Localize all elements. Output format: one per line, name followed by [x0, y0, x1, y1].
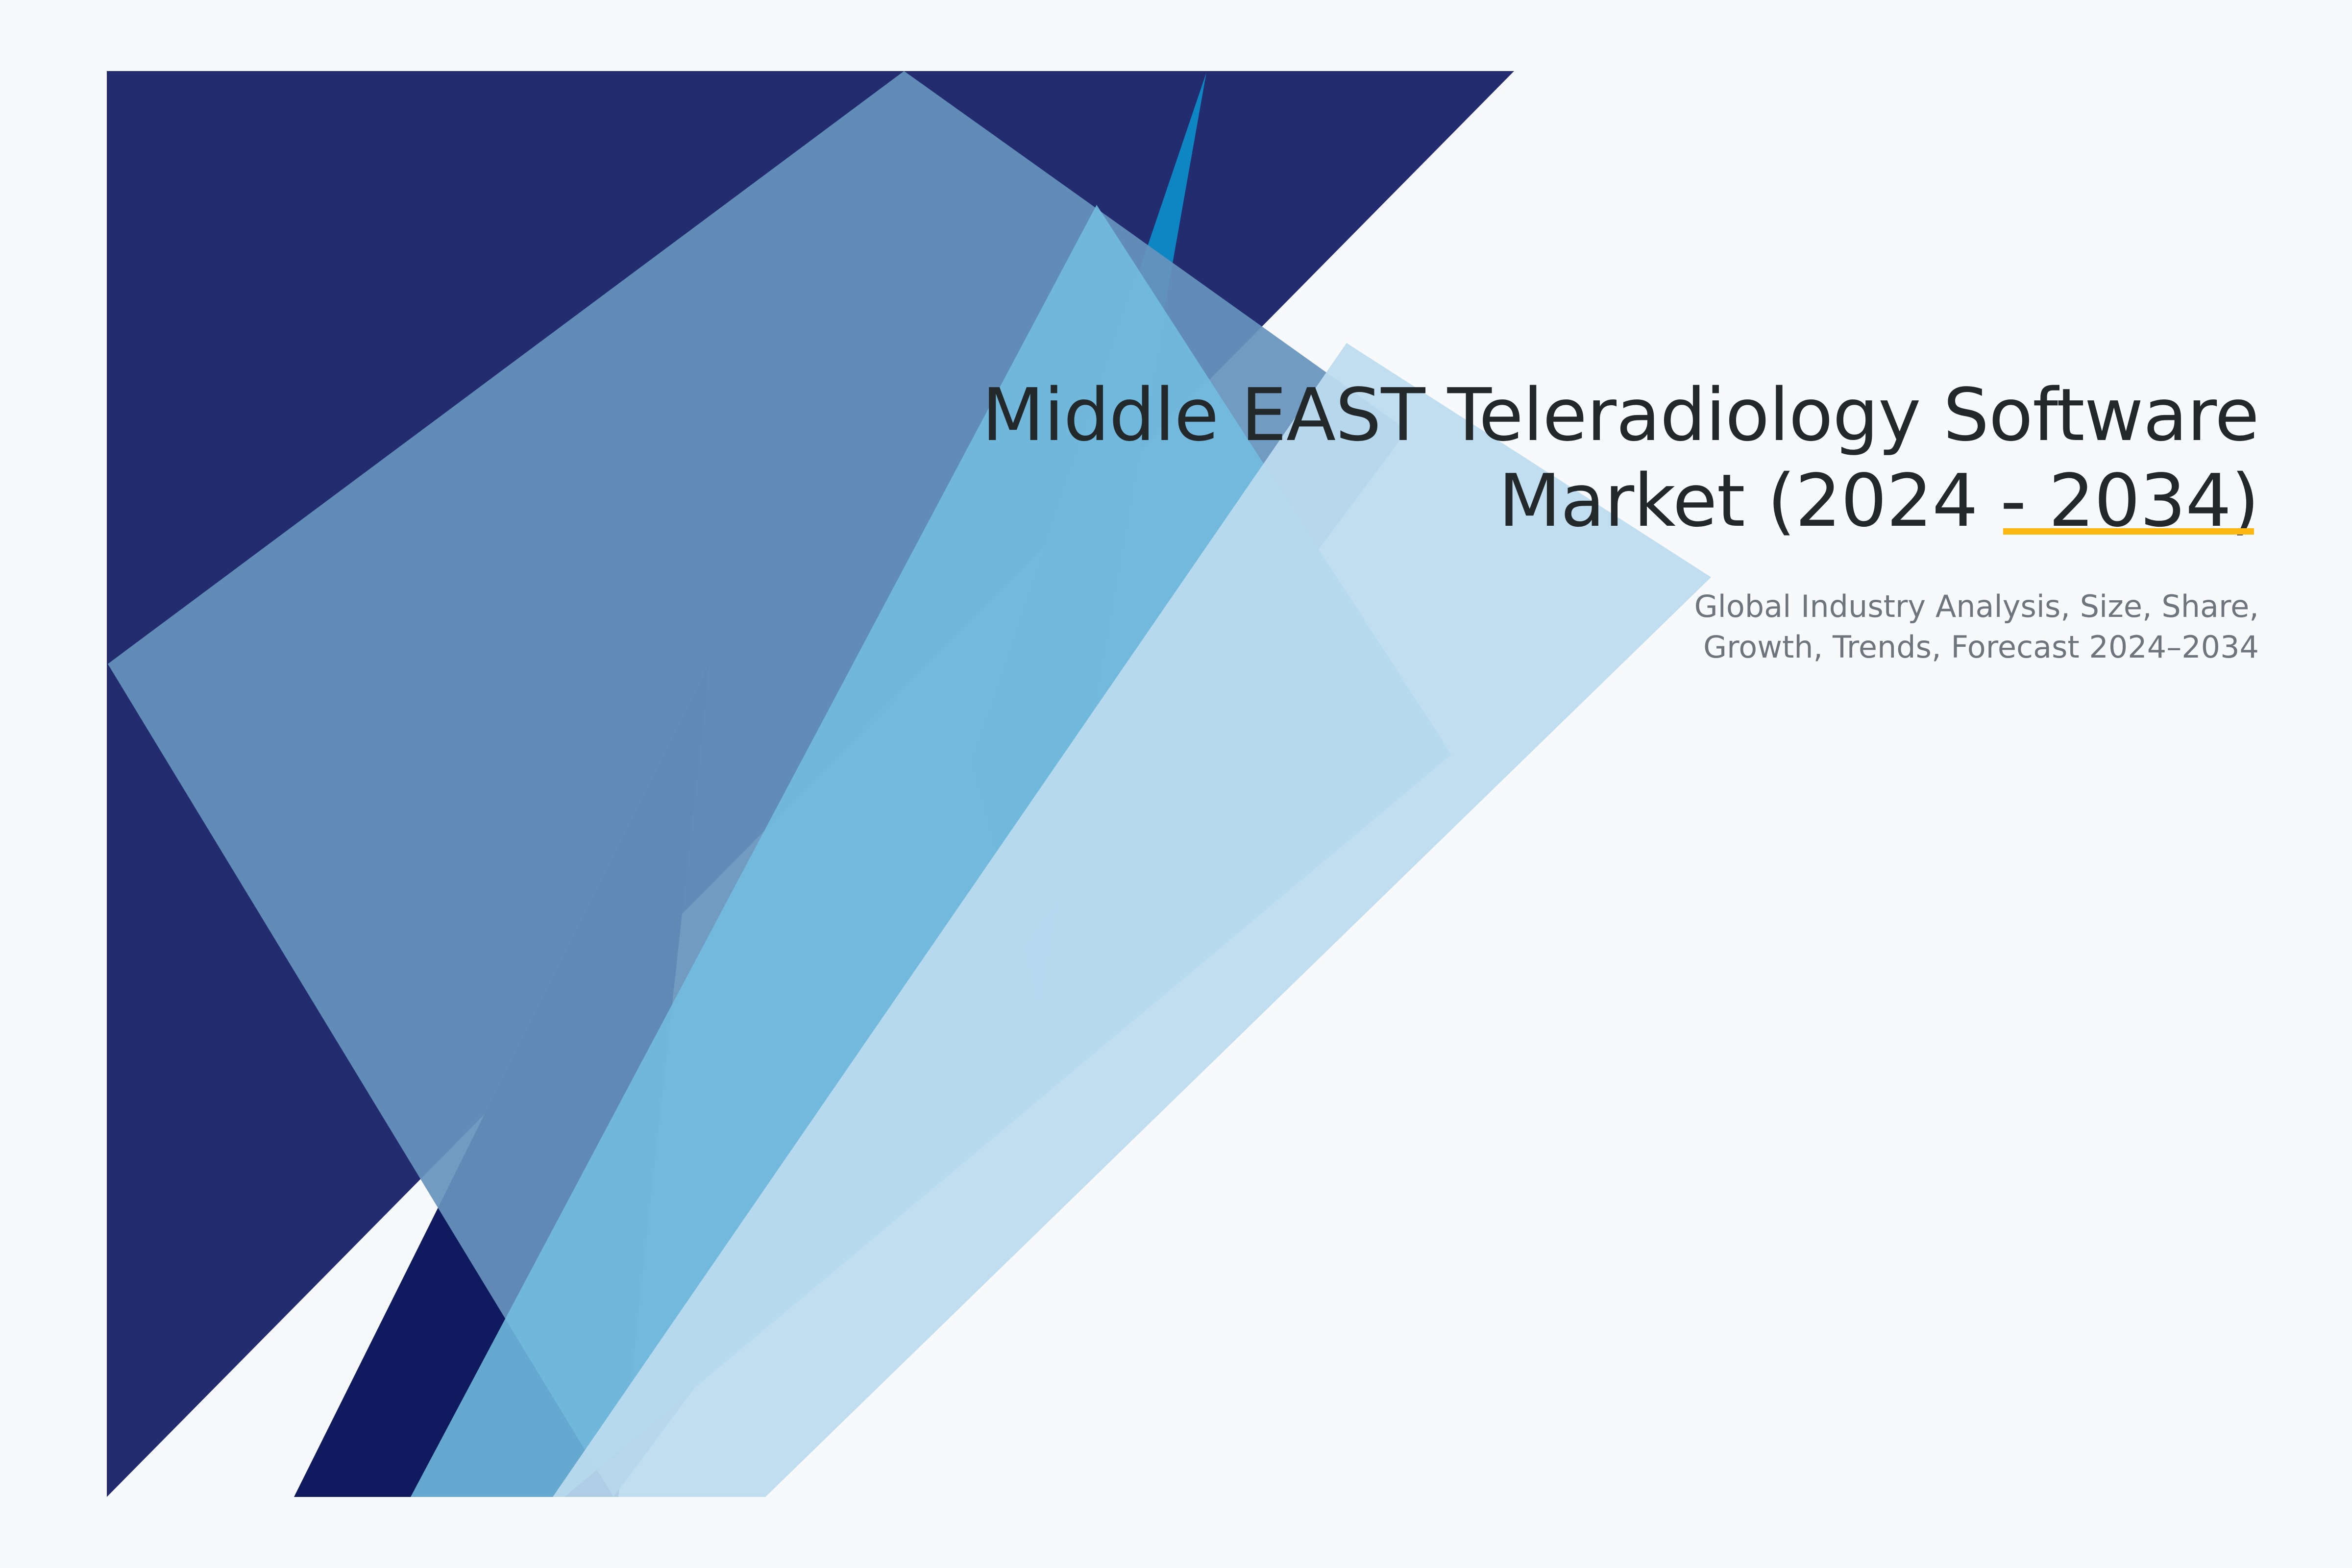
abstract-geometric-cover-graphic	[0, 0, 2352, 1568]
page-subtitle-line-2: Growth, Trends, Forecast 2024–2034	[1703, 629, 2259, 665]
cover-text-block: Middle EAST Teleradiology SoftwareMarket…	[735, 372, 2259, 667]
report-cover-page: Middle EAST Teleradiology SoftwareMarket…	[0, 0, 2352, 1568]
page-subtitle-line-1: Global Industry Analysis, Size, Share,	[1694, 588, 2259, 624]
page-title-line-1: Middle EAST Teleradiology Software	[982, 373, 2259, 457]
page-title: Middle EAST Teleradiology SoftwareMarket…	[735, 372, 2259, 543]
title-accent-underline	[2003, 528, 2254, 535]
page-subtitle: Global Industry Analysis, Size, Share,Gr…	[735, 543, 2259, 667]
